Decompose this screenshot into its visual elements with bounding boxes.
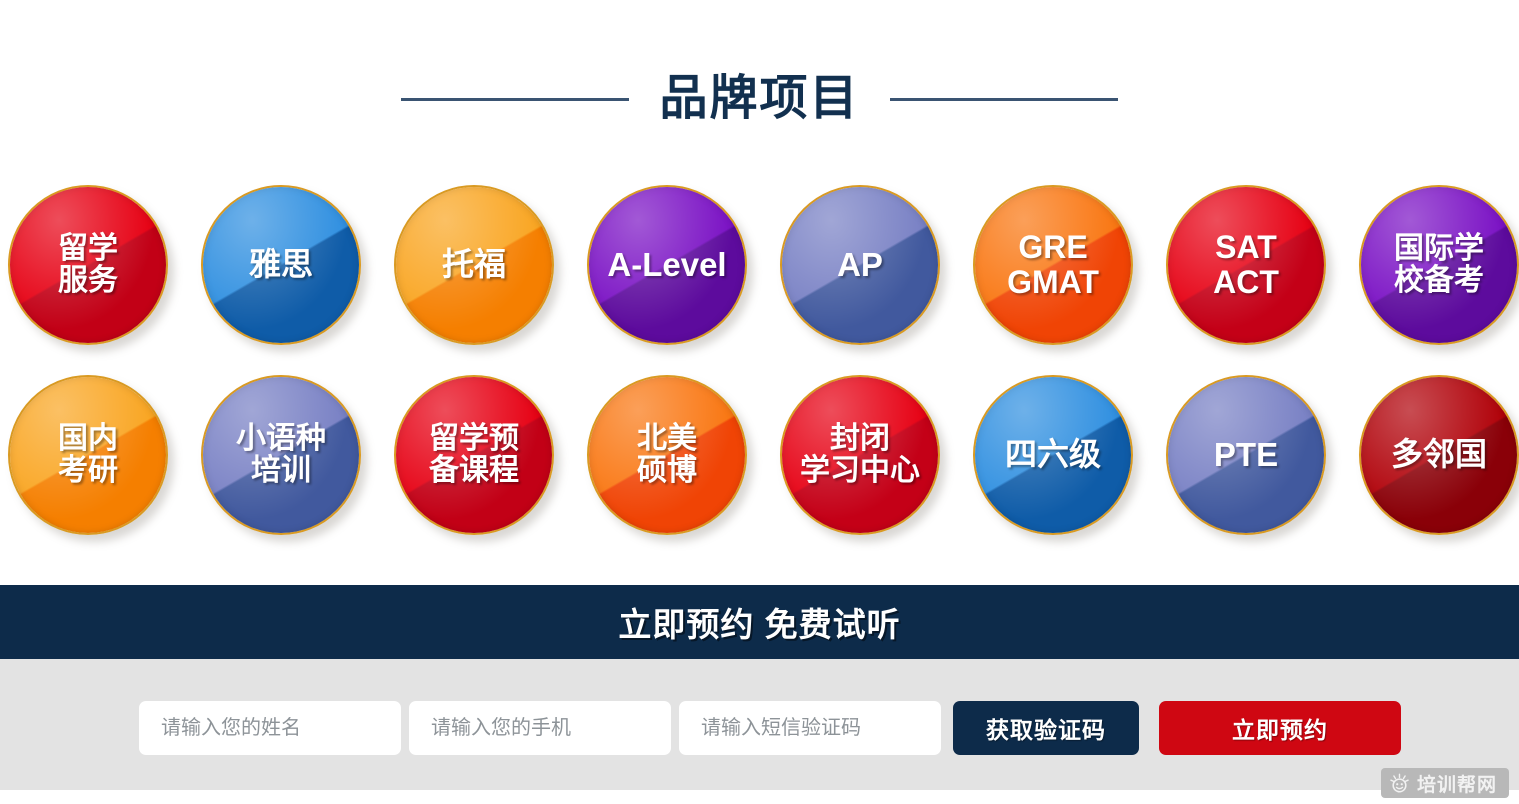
watermark-text: 培训帮网 bbox=[1417, 770, 1497, 797]
sms-code-input[interactable] bbox=[679, 701, 941, 755]
page-title: 品牌项目 bbox=[659, 75, 859, 123]
title-rule-left bbox=[401, 98, 629, 101]
site-watermark: 培训帮网 bbox=[1381, 768, 1509, 798]
bubble-pte[interactable]: PTE bbox=[1166, 375, 1326, 535]
bubble-label: 留学预 备课程 bbox=[427, 423, 521, 487]
bubble-north-america-master-phd[interactable]: 北美 硕博 bbox=[587, 375, 747, 535]
bubble-label: 留学 服务 bbox=[56, 233, 120, 297]
program-row-2: 国内 考研小语种 培训留学预 备课程北美 硕博封闭 学习中心四六级PTE多邻国 bbox=[8, 375, 1519, 535]
bubble-label: A-Level bbox=[605, 248, 728, 283]
bubble-duolingo[interactable]: 多邻国 bbox=[1359, 375, 1519, 535]
bubble-label: 国际学 校备考 bbox=[1392, 233, 1486, 297]
cta-banner: 立即预约 免费试听 bbox=[0, 585, 1519, 659]
bubble-label: 北美 硕博 bbox=[635, 423, 699, 487]
booking-form: 获取验证码 立即预约 bbox=[139, 701, 1401, 755]
bubble-cet4-cet6[interactable]: 四六级 bbox=[973, 375, 1133, 535]
bubble-label: 小语种 培训 bbox=[234, 423, 328, 487]
bubble-ap[interactable]: AP bbox=[780, 185, 940, 345]
bubble-label: 雅思 bbox=[247, 248, 315, 282]
bubble-label: SAT ACT bbox=[1211, 230, 1281, 300]
name-input[interactable] bbox=[139, 701, 401, 755]
bubble-label: 多邻国 bbox=[1389, 438, 1489, 472]
bubble-toefl[interactable]: 托福 bbox=[394, 185, 554, 345]
cta-banner-text: 立即预约 免费试听 bbox=[618, 598, 900, 646]
bubble-label: AP bbox=[835, 248, 885, 283]
bubble-study-abroad-prep-course[interactable]: 留学预 备课程 bbox=[394, 375, 554, 535]
get-sms-code-button[interactable]: 获取验证码 bbox=[953, 701, 1139, 755]
bubble-liuxue-fuwu[interactable]: 留学 服务 bbox=[8, 185, 168, 345]
smiling-sun-icon bbox=[1389, 773, 1410, 794]
bubble-label: 国内 考研 bbox=[56, 423, 120, 487]
bubble-ielts[interactable]: 雅思 bbox=[201, 185, 361, 345]
bubble-label: 封闭 学习中心 bbox=[782, 423, 938, 487]
bubble-guonei-kaoyan[interactable]: 国内 考研 bbox=[8, 375, 168, 535]
submit-booking-button[interactable]: 立即预约 bbox=[1159, 701, 1401, 755]
bubble-label: GRE GMAT bbox=[1005, 230, 1101, 300]
bubble-label: PTE bbox=[1212, 438, 1280, 473]
bubble-label: 四六级 bbox=[1003, 438, 1103, 472]
title-rule-right bbox=[890, 98, 1118, 101]
program-row-1: 留学 服务雅思托福A-LevelAPGRE GMATSAT ACT国际学 校备考 bbox=[8, 185, 1519, 345]
program-bubble-grid: 留学 服务雅思托福A-LevelAPGRE GMATSAT ACT国际学 校备考… bbox=[8, 185, 1519, 565]
bubble-closed-study-center[interactable]: 封闭 学习中心 bbox=[780, 375, 940, 535]
bubble-minor-language-training[interactable]: 小语种 培训 bbox=[201, 375, 361, 535]
bubble-sat-act[interactable]: SAT ACT bbox=[1166, 185, 1326, 345]
phone-input[interactable] bbox=[409, 701, 671, 755]
section-title-row: 品牌项目 bbox=[0, 62, 1519, 136]
bubble-label: 托福 bbox=[440, 248, 508, 282]
bubble-international-school-prep[interactable]: 国际学 校备考 bbox=[1359, 185, 1519, 345]
brand-programs-page: 品牌项目 留学 服务雅思托福A-LevelAPGRE GMATSAT ACT国际… bbox=[0, 0, 1519, 804]
bubble-a-level[interactable]: A-Level bbox=[587, 185, 747, 345]
bubble-gre-gmat[interactable]: GRE GMAT bbox=[973, 185, 1133, 345]
